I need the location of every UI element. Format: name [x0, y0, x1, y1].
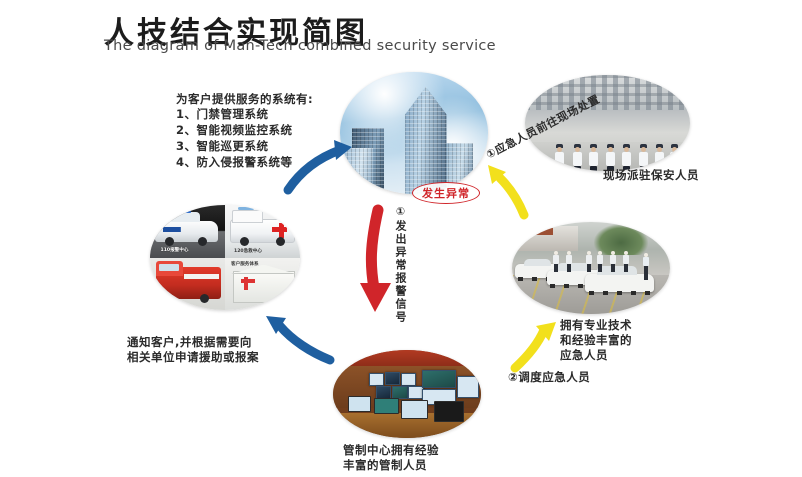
emergency-caption: 通知客户,并根据需要向 相关单位申请援助或报案: [127, 335, 259, 365]
list-item: 1、门禁管理系统: [176, 106, 293, 122]
alert-abnormal-tag: 发生异常: [412, 182, 480, 204]
list-item: 4、防入侵报警系统等: [176, 154, 293, 170]
step1-signal-label: ①发出异常报警信号: [392, 205, 408, 324]
mini-label-service: 客户服务体系: [231, 261, 259, 267]
arrow-red-to-control: [360, 210, 391, 312]
patrol-cars-photo: [512, 222, 670, 314]
mini-label-120: 120急救中心: [234, 248, 262, 254]
control-center-photo: [333, 350, 481, 438]
skyscraper-photo: [340, 72, 488, 194]
patrol-caption: 拥有专业技术 和经验丰富的 应急人员: [560, 318, 632, 363]
systems-list: 1、门禁管理系统 2、智能视频监控系统 3、智能巡更系统 4、防入侵报警系统等: [176, 106, 293, 170]
systems-list-heading: 为客户提供服务的系统有:: [176, 91, 313, 107]
guards-caption: 现场派驻保安人员: [603, 168, 699, 183]
arrow-blue-to-emergency: [266, 316, 330, 360]
step2-dispatch-label: ②调度应急人员: [508, 369, 590, 385]
page-subtitle: The diagram of Man-Tech combined securit…: [104, 38, 496, 54]
arrow-yellow-to-patrol: [515, 322, 556, 368]
list-item: 2、智能视频监控系统: [176, 122, 293, 138]
diagram-canvas: 人技结合实现简图 The diagram of Man-Tech combine…: [0, 0, 802, 477]
control-center-caption: 管制中心拥有经验 丰富的管制人员: [343, 443, 439, 473]
list-item: 3、智能巡更系统: [176, 138, 293, 154]
emergency-services-collage: 110报警中心 120急救中心 客户服务体系: [150, 205, 300, 310]
mini-label-110: 110报警中心: [161, 247, 189, 253]
arrow-yellow-to-guards: [488, 165, 524, 215]
